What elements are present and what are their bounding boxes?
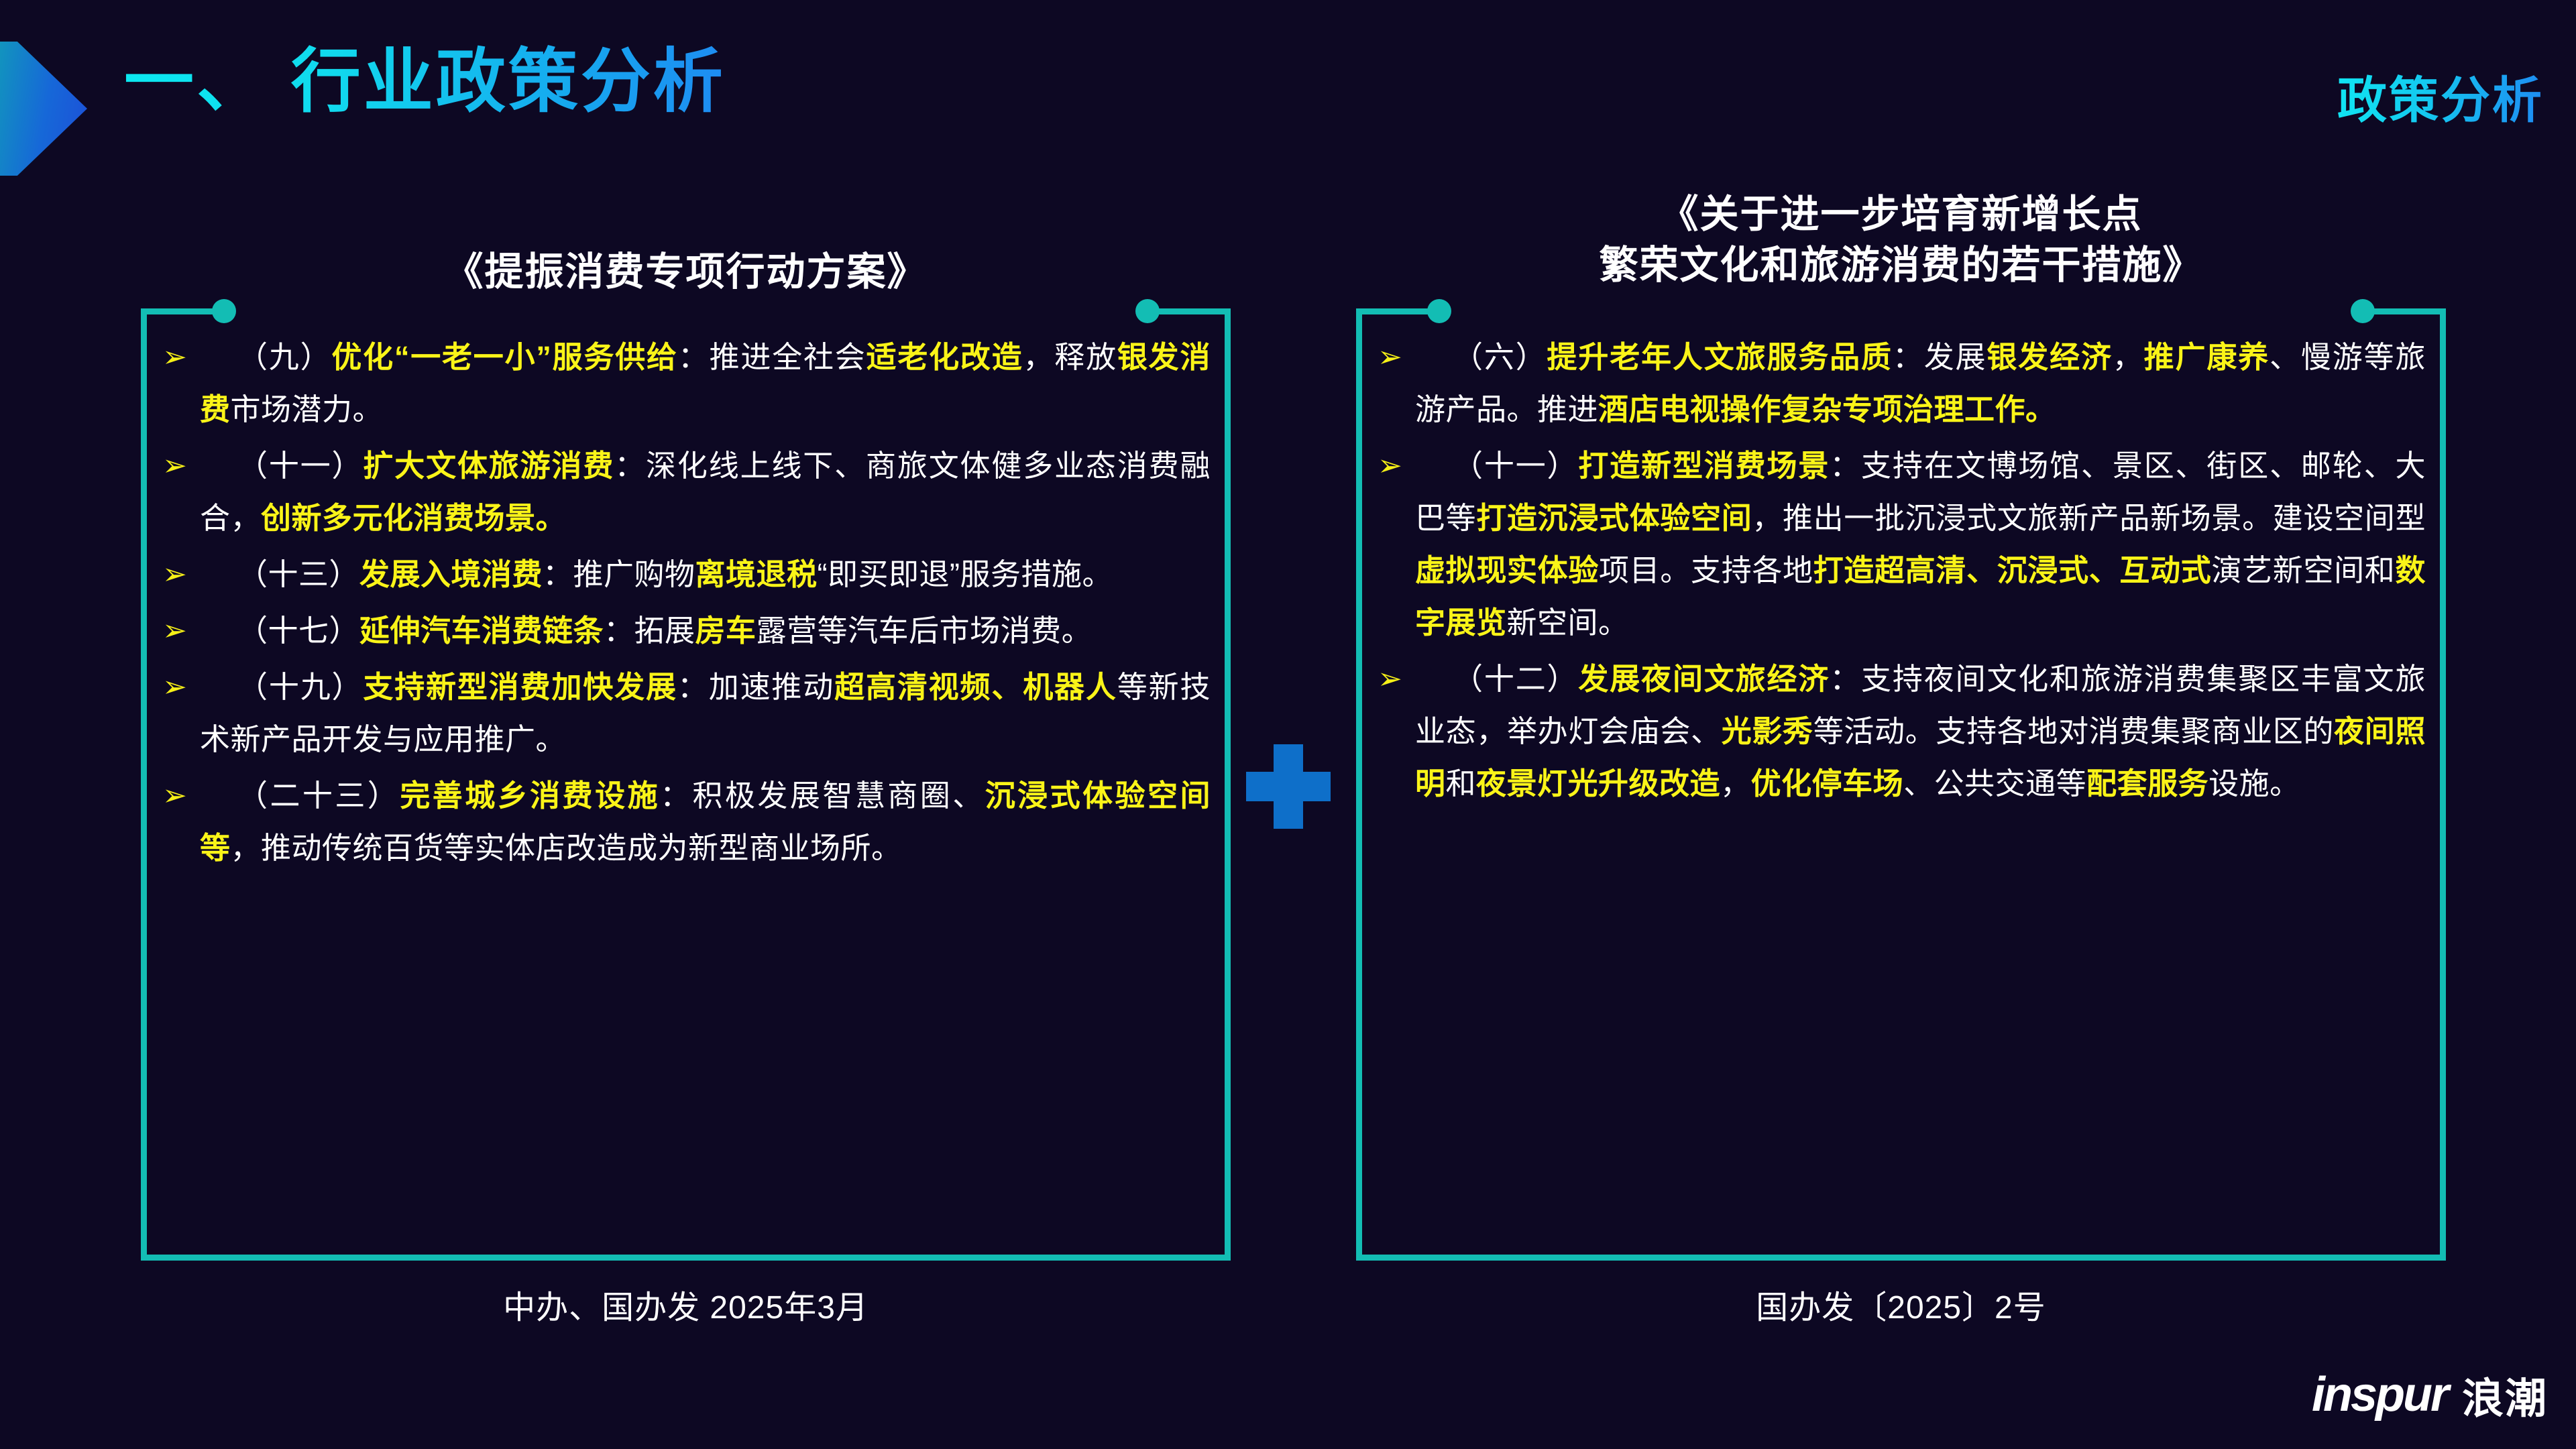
- policy-bullet-text: （六）提升老年人文旅服务品质：发展银发经济，推广康养、慢游等旅游产品。推进酒店电…: [1415, 331, 2426, 436]
- left-panel-caption: 中办、国办发 2025年3月: [141, 1281, 1231, 1328]
- policy-bullet-text: （十一）打造新型消费场景：支持在文博场馆、景区、街区、邮轮、大巴等打造沉浸式体验…: [1415, 440, 2426, 649]
- bullet-arrow-icon: ➢: [1374, 331, 1415, 384]
- policy-bullet-text: （十二）发展夜间文旅经济：支持夜间文化和旅游消费集聚区丰富文旅业态，举办灯会庙会…: [1415, 653, 2426, 810]
- policy-bullet-item: ➢（九）优化“一老一小”服务供给：推进全社会适老化改造，释放银发消费市场潜力。: [158, 331, 1211, 436]
- plus-icon: [1246, 744, 1331, 829]
- bullet-arrow-icon: ➢: [1374, 653, 1415, 705]
- right-panel-title-line2: 繁荣文化和旅游消费的若干措施》: [1356, 240, 2446, 291]
- logo-wordmark: inspur: [2312, 1367, 2447, 1422]
- policy-bullet-item: ➢（十一）扩大文体旅游消费：深化线上线下、商旅文体健多业态消费融合，创新多元化消…: [158, 440, 1211, 544]
- policy-bullet-item: ➢（二十三）完善城乡消费设施：积极发展智慧商圈、沉浸式体验空间等，推动传统百货等…: [158, 770, 1211, 874]
- right-panel-title: 《关于进一步培育新增长点 繁荣文化和旅游消费的若干措施》: [1356, 189, 2446, 291]
- right-policy-panel: 《关于进一步培育新增长点 繁荣文化和旅游消费的若干措施》 ➢（六）提升老年人文旅…: [1356, 308, 2446, 1261]
- policy-bullet-text: （十七）延伸汽车消费链条：拓展房车露营等汽车后市场消费。: [200, 605, 1211, 657]
- policy-bullet-item: ➢（十三）发展入境消费：推广购物离境退税“即买即退”服务措施。: [158, 548, 1211, 601]
- header-section-tag: 政策分析: [2337, 60, 2544, 132]
- bullet-arrow-icon: ➢: [158, 661, 200, 713]
- left-panel-title: 《提振消费专项行动方案》: [141, 247, 1231, 298]
- corner-chevron-decoration: [0, 42, 87, 176]
- policy-bullet-item: ➢（十二）发展夜间文旅经济：支持夜间文化和旅游消费集聚区丰富文旅业态，举办灯会庙…: [1374, 653, 2426, 810]
- policy-bullet-item: ➢（十七）延伸汽车消费链条：拓展房车露营等汽车后市场消费。: [158, 605, 1211, 657]
- bullet-arrow-icon: ➢: [158, 440, 200, 492]
- policy-bullet-text: （十三）发展入境消费：推广购物离境退税“即买即退”服务措施。: [200, 548, 1211, 601]
- bullet-arrow-icon: ➢: [158, 770, 200, 822]
- policy-bullet-item: ➢（十九）支持新型消费加快发展：加速推动超高清视频、机器人等新技术新产品开发与应…: [158, 661, 1211, 766]
- left-policy-panel: 《提振消费专项行动方案》 ➢（九）优化“一老一小”服务供给：推进全社会适老化改造…: [141, 308, 1231, 1261]
- page-title: 一、 行业政策分析: [124, 24, 726, 125]
- inspur-logo: inspur 浪潮: [2312, 1365, 2548, 1425]
- right-panel-caption: 国办发〔2025〕2号: [1356, 1281, 2446, 1328]
- right-panel-title-line1: 《关于进一步培育新增长点: [1356, 189, 2446, 240]
- policy-bullet-item: ➢（十一）打造新型消费场景：支持在文博场馆、景区、街区、邮轮、大巴等打造沉浸式体…: [1374, 440, 2426, 649]
- policy-bullet-item: ➢（六）提升老年人文旅服务品质：发展银发经济，推广康养、慢游等旅游产品。推进酒店…: [1374, 331, 2426, 436]
- slide-root: 一、 行业政策分析 政策分析 《提振消费专项行动方案》 ➢（九）优化“一老一小”…: [0, 0, 2576, 1449]
- logo-chinese-name: 浪潮: [2462, 1365, 2548, 1425]
- bullet-arrow-icon: ➢: [158, 331, 200, 384]
- policy-bullet-text: （二十三）完善城乡消费设施：积极发展智慧商圈、沉浸式体验空间等，推动传统百货等实…: [200, 770, 1211, 874]
- right-panel-body: ➢（六）提升老年人文旅服务品质：发展银发经济，推广康养、慢游等旅游产品。推进酒店…: [1356, 308, 2446, 1261]
- bullet-arrow-icon: ➢: [158, 605, 200, 657]
- policy-bullet-text: （九）优化“一老一小”服务供给：推进全社会适老化改造，释放银发消费市场潜力。: [200, 331, 1211, 436]
- policy-bullet-text: （十一）扩大文体旅游消费：深化线上线下、商旅文体健多业态消费融合，创新多元化消费…: [200, 440, 1211, 544]
- bullet-arrow-icon: ➢: [158, 548, 200, 601]
- bullet-arrow-icon: ➢: [1374, 440, 1415, 492]
- policy-bullet-text: （十九）支持新型消费加快发展：加速推动超高清视频、机器人等新技术新产品开发与应用…: [200, 661, 1211, 766]
- left-panel-body: ➢（九）优化“一老一小”服务供给：推进全社会适老化改造，释放银发消费市场潜力。➢…: [141, 308, 1231, 1261]
